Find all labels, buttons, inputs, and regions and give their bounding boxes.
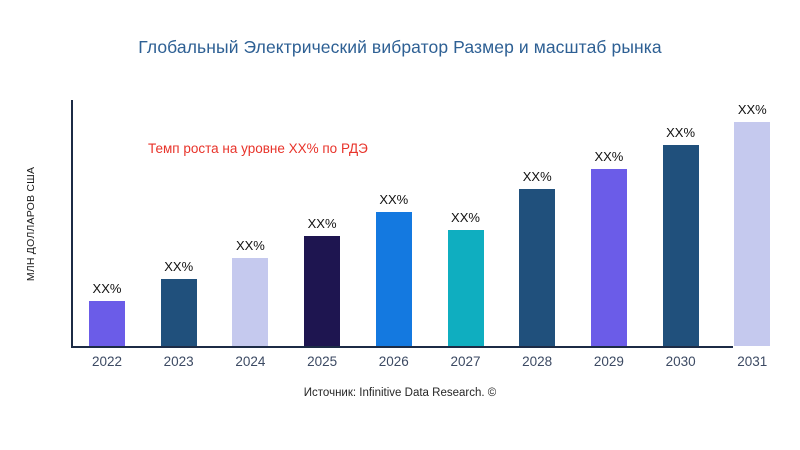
bar-group: XX%2029 bbox=[573, 100, 645, 346]
bar[interactable] bbox=[304, 236, 340, 346]
plot-area: XX%2022XX%2023XX%2024XX%2025XX%2026XX%20… bbox=[71, 100, 733, 348]
x-axis-tick-label: 2030 bbox=[645, 354, 717, 369]
bar-group: XX%2024 bbox=[214, 100, 286, 346]
bar[interactable] bbox=[89, 301, 125, 347]
bar-group: XX%2028 bbox=[501, 100, 573, 346]
bar-value-label: XX% bbox=[358, 192, 430, 207]
bar[interactable] bbox=[663, 145, 699, 346]
x-axis-tick-label: 2022 bbox=[71, 354, 143, 369]
x-axis-tick-label: 2023 bbox=[143, 354, 215, 369]
bar-group: XX%2030 bbox=[645, 100, 717, 346]
x-axis-tick-label: 2031 bbox=[716, 354, 788, 369]
market-size-bar-chart: Глобальный Электрический вибратор Размер… bbox=[0, 0, 800, 450]
x-axis-tick-label: 2027 bbox=[430, 354, 502, 369]
bar[interactable] bbox=[519, 189, 555, 347]
x-axis-spine bbox=[71, 346, 733, 348]
bar-value-label: XX% bbox=[716, 102, 788, 117]
bar-group: XX%2023 bbox=[143, 100, 215, 346]
bar-value-label: XX% bbox=[71, 281, 143, 296]
x-axis-tick-label: 2029 bbox=[573, 354, 645, 369]
chart-title: Глобальный Электрический вибратор Размер… bbox=[0, 37, 800, 58]
bar-group: XX%2027 bbox=[430, 100, 502, 346]
bar-value-label: XX% bbox=[286, 216, 358, 231]
bar-value-label: XX% bbox=[573, 149, 645, 164]
bar-group: XX%2025 bbox=[286, 100, 358, 346]
bar[interactable] bbox=[591, 169, 627, 347]
bar-group: XX%2022 bbox=[71, 100, 143, 346]
bar[interactable] bbox=[376, 212, 412, 347]
growth-rate-annotation: Темп роста на уровне XX% по РДЭ bbox=[148, 141, 368, 156]
y-axis-label-container: МЛН ДОЛЛАРОВ США bbox=[22, 100, 40, 348]
bar-group: XX%2026 bbox=[358, 100, 430, 346]
x-axis-tick-label: 2024 bbox=[214, 354, 286, 369]
y-axis-label: МЛН ДОЛЛАРОВ США bbox=[25, 167, 37, 281]
bar[interactable] bbox=[448, 230, 484, 346]
bar-value-label: XX% bbox=[645, 125, 717, 140]
bar-value-label: XX% bbox=[214, 238, 286, 253]
bar-value-label: XX% bbox=[501, 169, 573, 184]
bar-value-label: XX% bbox=[143, 259, 215, 274]
x-axis-tick-label: 2028 bbox=[501, 354, 573, 369]
bar-value-label: XX% bbox=[430, 210, 502, 225]
x-axis-tick-label: 2026 bbox=[358, 354, 430, 369]
source-attribution: Источник: Infinitive Data Research. © bbox=[0, 387, 800, 399]
bar[interactable] bbox=[232, 258, 268, 346]
bar[interactable] bbox=[161, 279, 197, 346]
bar[interactable] bbox=[734, 122, 770, 346]
bar-group: XX%2031 bbox=[716, 100, 788, 346]
x-axis-tick-label: 2025 bbox=[286, 354, 358, 369]
